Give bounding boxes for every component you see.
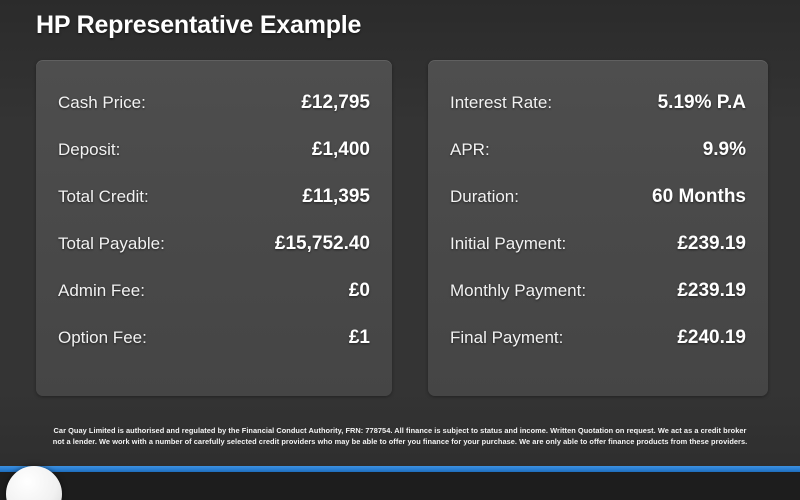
row-label-monthly-payment: Monthly Payment: bbox=[450, 281, 586, 301]
row-label-total-payable: Total Payable: bbox=[58, 234, 165, 254]
table-row: Final Payment: £240.19 bbox=[450, 327, 746, 374]
row-label-deposit: Deposit: bbox=[58, 140, 120, 160]
row-label-option-fee: Option Fee: bbox=[58, 328, 147, 348]
legal-disclaimer: Car Quay Limited is authorised and regul… bbox=[0, 425, 800, 448]
row-label-total-credit: Total Credit: bbox=[58, 187, 149, 207]
table-row: Option Fee: £1 bbox=[58, 327, 370, 374]
row-value-apr: 9.9% bbox=[703, 139, 746, 161]
row-value-monthly-payment: £239.19 bbox=[677, 280, 746, 302]
row-value-interest-rate: 5.19% P.A bbox=[658, 92, 746, 114]
table-row: Initial Payment: £239.19 bbox=[450, 233, 746, 280]
table-row: Monthly Payment: £239.19 bbox=[450, 280, 746, 327]
finance-summary-panel-right: Interest Rate: 5.19% P.A APR: 9.9% Durat… bbox=[428, 60, 768, 396]
row-value-final-payment: £240.19 bbox=[677, 327, 746, 349]
finance-summary-panel-left: Cash Price: £12,795 Deposit: £1,400 Tota… bbox=[36, 60, 392, 396]
row-label-apr: APR: bbox=[450, 140, 490, 160]
row-label-cash-price: Cash Price: bbox=[58, 93, 146, 113]
table-row: Admin Fee: £0 bbox=[58, 280, 370, 327]
table-row: APR: 9.9% bbox=[450, 139, 746, 186]
table-row: Duration: 60 Months bbox=[450, 186, 746, 233]
row-label-interest-rate: Interest Rate: bbox=[450, 93, 552, 113]
row-label-admin-fee: Admin Fee: bbox=[58, 281, 145, 301]
table-row: Total Payable: £15,752.40 bbox=[58, 233, 370, 280]
row-label-initial-payment: Initial Payment: bbox=[450, 234, 566, 254]
row-value-deposit: £1,400 bbox=[312, 139, 370, 161]
accent-divider bbox=[0, 466, 800, 472]
footer-bar bbox=[0, 466, 800, 500]
row-label-final-payment: Final Payment: bbox=[450, 328, 563, 348]
table-row: Total Credit: £11,395 bbox=[58, 186, 370, 233]
row-value-total-credit: £11,395 bbox=[302, 186, 370, 208]
row-label-duration: Duration: bbox=[450, 187, 519, 207]
disclaimer-line-1: Car Quay Limited is authorised and regul… bbox=[22, 425, 778, 436]
table-row: Cash Price: £12,795 bbox=[58, 92, 370, 139]
row-value-initial-payment: £239.19 bbox=[677, 233, 746, 255]
row-value-admin-fee: £0 bbox=[349, 280, 370, 302]
disclaimer-line-2: not a lender. We work with a number of c… bbox=[22, 436, 778, 447]
row-value-option-fee: £1 bbox=[349, 327, 370, 349]
hp-representative-example-page: HP Representative Example Cash Price: £1… bbox=[0, 0, 800, 500]
page-title: HP Representative Example bbox=[36, 11, 361, 40]
row-value-cash-price: £12,795 bbox=[301, 92, 370, 114]
table-row: Deposit: £1,400 bbox=[58, 139, 370, 186]
table-row: Interest Rate: 5.19% P.A bbox=[450, 92, 746, 139]
row-value-total-payable: £15,752.40 bbox=[275, 233, 370, 255]
row-value-duration: 60 Months bbox=[652, 186, 746, 208]
